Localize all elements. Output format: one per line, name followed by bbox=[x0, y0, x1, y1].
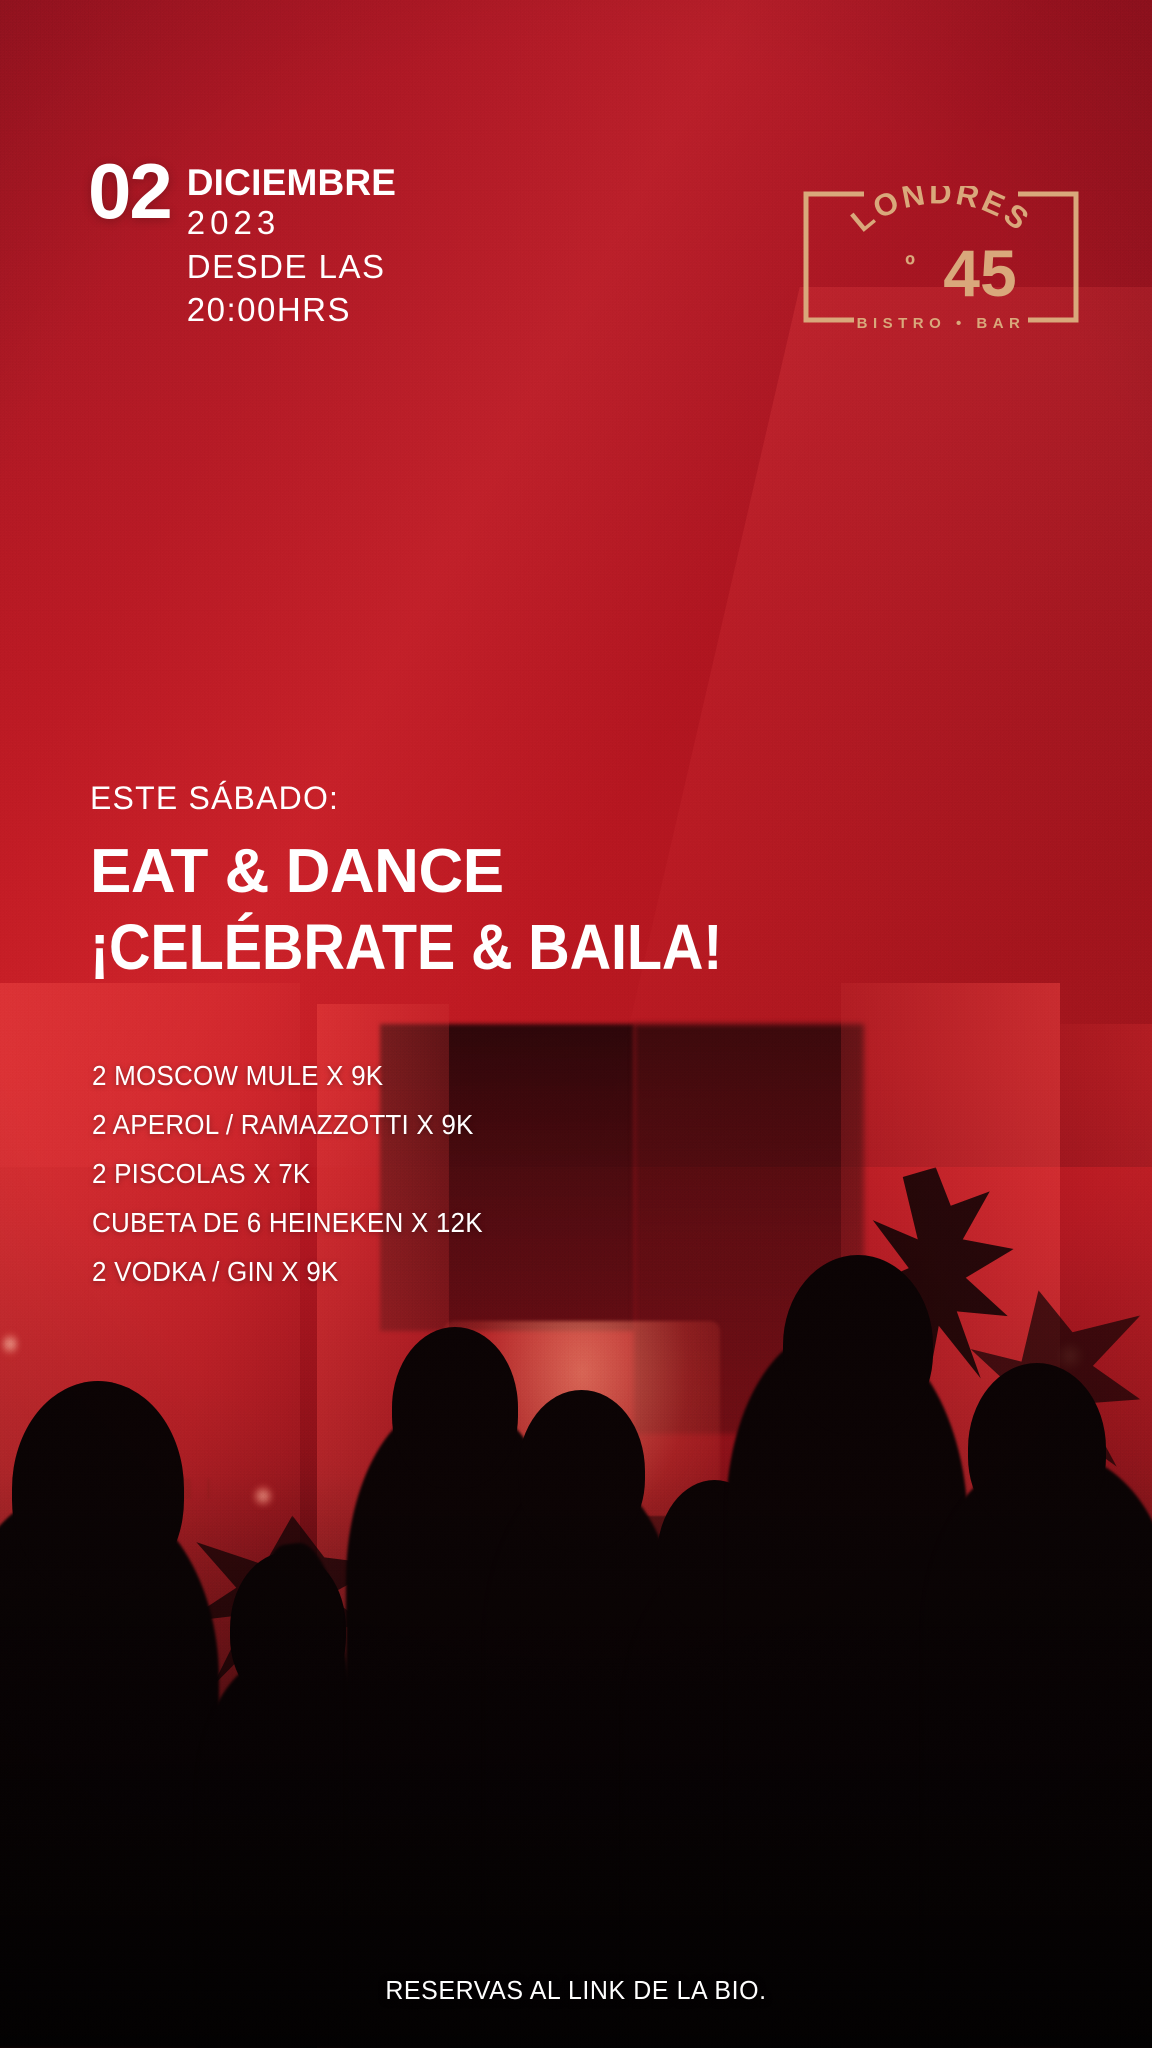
list-item: CUBETA DE 6 HEINEKEN X 12K bbox=[92, 1209, 483, 1237]
list-item: 2 APEROL / RAMAZZOTTI X 9K bbox=[92, 1111, 483, 1139]
date-year: 2023 bbox=[187, 201, 396, 245]
date-month: DICIEMBRE bbox=[187, 164, 396, 201]
date-time: 20:00HRS bbox=[187, 288, 396, 332]
headline-block: ESTE SÁBADO: EAT & DANCE ¡CELÉBRATE & BA… bbox=[90, 780, 793, 979]
event-date-block: 02 DICIEMBRE 2023 DESDE LAS 20:00HRS bbox=[88, 160, 396, 332]
event-poster: 02 DICIEMBRE 2023 DESDE LAS 20:00HRS bbox=[0, 0, 1152, 2048]
headline-line-2: ¡CELÉBRATE & BAILA! bbox=[90, 915, 722, 979]
logo-tagline: BISTRO • BAR bbox=[857, 315, 1026, 328]
date-day: 02 bbox=[88, 160, 171, 222]
reservations-note: RESERVAS AL LINK DE LA BIO. bbox=[23, 1975, 1129, 2006]
londres-45-logo: LONDRES º 45 BISTRO • BAR bbox=[802, 186, 1080, 328]
list-item: 2 PISCOLAS X 7K bbox=[92, 1160, 483, 1188]
headline-kicker: ESTE SÁBADO: bbox=[90, 780, 793, 817]
logo-name-arc: LONDRES bbox=[844, 186, 1037, 239]
logo-ordinal-mark: º bbox=[905, 250, 915, 280]
list-item: 2 MOSCOW MULE X 9K bbox=[92, 1062, 483, 1090]
poster-text-overlay: 02 DICIEMBRE 2023 DESDE LAS 20:00HRS bbox=[0, 0, 1152, 2048]
drink-promos-list: 2 MOSCOW MULE X 9K 2 APEROL / RAMAZZOTTI… bbox=[92, 1062, 512, 1307]
date-detail-lines: DICIEMBRE 2023 DESDE LAS 20:00HRS bbox=[187, 160, 396, 332]
headline-line-1: EAT & DANCE bbox=[90, 841, 793, 903]
logo-number: 45 bbox=[943, 236, 1016, 310]
date-from-label: DESDE LAS bbox=[187, 245, 396, 289]
list-item: 2 VODKA / GIN X 9K bbox=[92, 1258, 483, 1286]
